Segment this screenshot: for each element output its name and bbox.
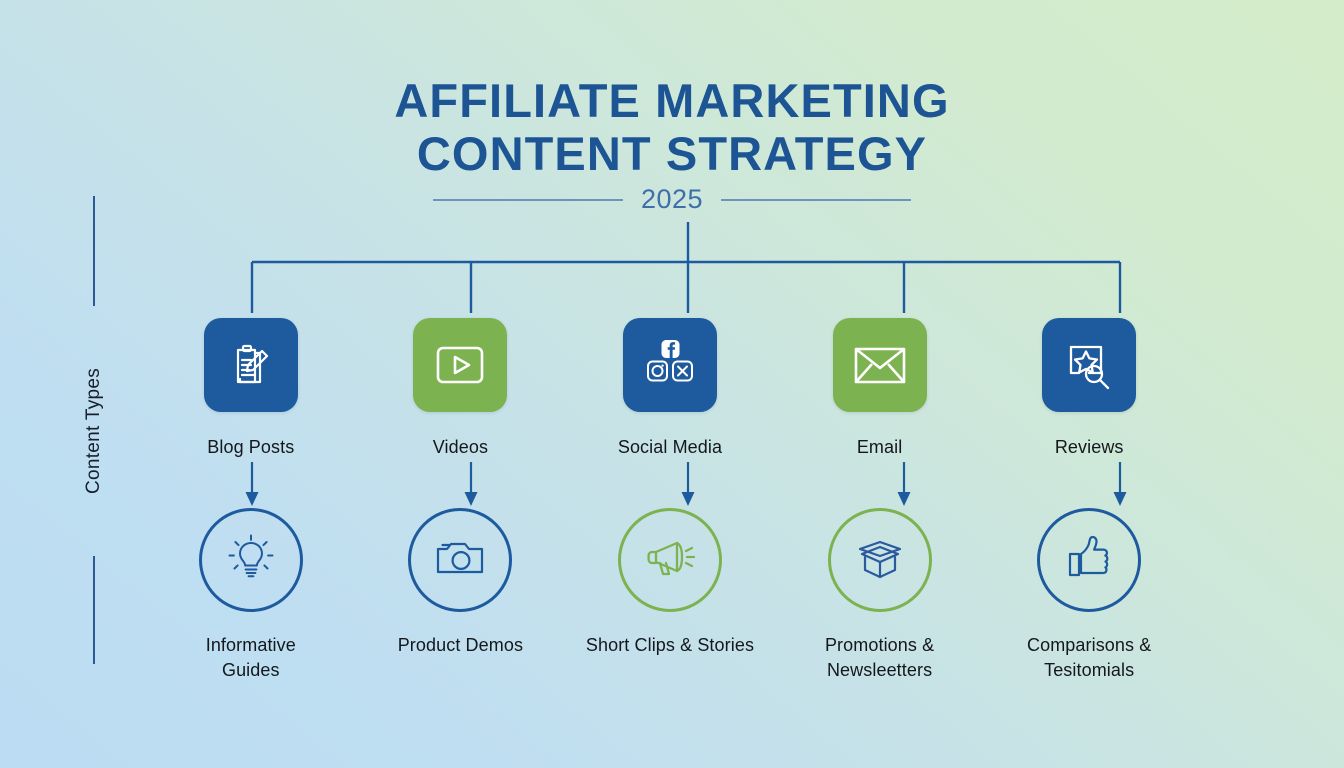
arrowhead-5: [1114, 492, 1127, 506]
detail-label-comparisons: Comparisons & Tesitomials: [1027, 633, 1151, 683]
circle-short-clips[interactable]: [618, 508, 722, 612]
tile-label-email: Email: [857, 436, 903, 459]
arrowhead-1: [246, 492, 259, 506]
content-detail-row: Informative Guides Product Demos: [146, 508, 1194, 683]
channel-column-videos[interactable]: Videos: [356, 318, 566, 459]
arrowhead-2: [465, 492, 478, 506]
detail-label-informative-guides: Informative Guides: [206, 633, 296, 683]
tile-blog-posts[interactable]: [204, 318, 298, 412]
channel-column-blog-posts[interactable]: Blog Posts: [146, 318, 356, 459]
page-title: AFFILIATE MARKETING CONTENT STRATEGY: [0, 74, 1344, 180]
content-type-row: Blog Posts Videos: [146, 318, 1194, 459]
content-types-axis: Content Types: [72, 196, 116, 664]
arrowhead-3: [682, 492, 695, 506]
envelope-icon: [851, 342, 909, 388]
detail-label-short-clips: Short Clips & Stories: [586, 633, 754, 658]
axis-line-bottom: [93, 556, 95, 664]
axis-label-text: Content Types: [83, 368, 105, 494]
open-box-icon: [851, 532, 909, 589]
year-rule-left: [433, 199, 623, 201]
thumbs-up-icon: [1062, 532, 1116, 589]
social-apps-icon: [640, 337, 700, 393]
camera-icon: [431, 534, 489, 587]
tile-reviews[interactable]: [1042, 318, 1136, 412]
axis-line-top: [93, 196, 95, 306]
tile-email[interactable]: [833, 318, 927, 412]
channel-column-email[interactable]: Email: [775, 318, 985, 459]
year-rule-right: [721, 199, 911, 201]
arrowhead-4: [898, 492, 911, 506]
detail-column-product-demos[interactable]: Product Demos: [356, 508, 566, 683]
detail-label-product-demos: Product Demos: [398, 633, 523, 658]
clipboard-pencil-icon: [224, 338, 278, 392]
detail-label-promotions: Promotions & Newsleetters: [825, 633, 934, 683]
lightbulb-icon: [223, 530, 279, 591]
infographic-canvas: AFFILIATE MARKETING CONTENT STRATEGY 202…: [0, 0, 1344, 768]
tile-label-social-media: Social Media: [618, 436, 722, 459]
tile-label-reviews: Reviews: [1055, 436, 1124, 459]
tile-label-blog-posts: Blog Posts: [207, 436, 294, 459]
axis-label: Content Types: [31, 306, 157, 556]
tile-social-media[interactable]: [623, 318, 717, 412]
circle-informative-guides[interactable]: [199, 508, 303, 612]
detail-column-comparisons[interactable]: Comparisons & Tesitomials: [984, 508, 1194, 683]
megaphone-icon: [641, 533, 699, 588]
year-subtitle: 2025: [0, 184, 1344, 215]
video-play-icon: [432, 341, 488, 389]
circle-comparisons[interactable]: [1037, 508, 1141, 612]
title-line-2: CONTENT STRATEGY: [0, 127, 1344, 180]
detail-column-informative-guides[interactable]: Informative Guides: [146, 508, 356, 683]
star-search-icon: [1061, 338, 1117, 392]
circle-product-demos[interactable]: [408, 508, 512, 612]
year-text: 2025: [641, 184, 703, 215]
circle-promotions[interactable]: [828, 508, 932, 612]
detail-column-promotions[interactable]: Promotions & Newsleetters: [775, 508, 985, 683]
tile-label-videos: Videos: [433, 436, 488, 459]
channel-column-reviews[interactable]: Reviews: [984, 318, 1194, 459]
title-line-1: AFFILIATE MARKETING: [0, 74, 1344, 127]
channel-column-social-media[interactable]: Social Media: [565, 318, 775, 459]
tile-videos[interactable]: [413, 318, 507, 412]
detail-column-short-clips[interactable]: Short Clips & Stories: [565, 508, 775, 683]
